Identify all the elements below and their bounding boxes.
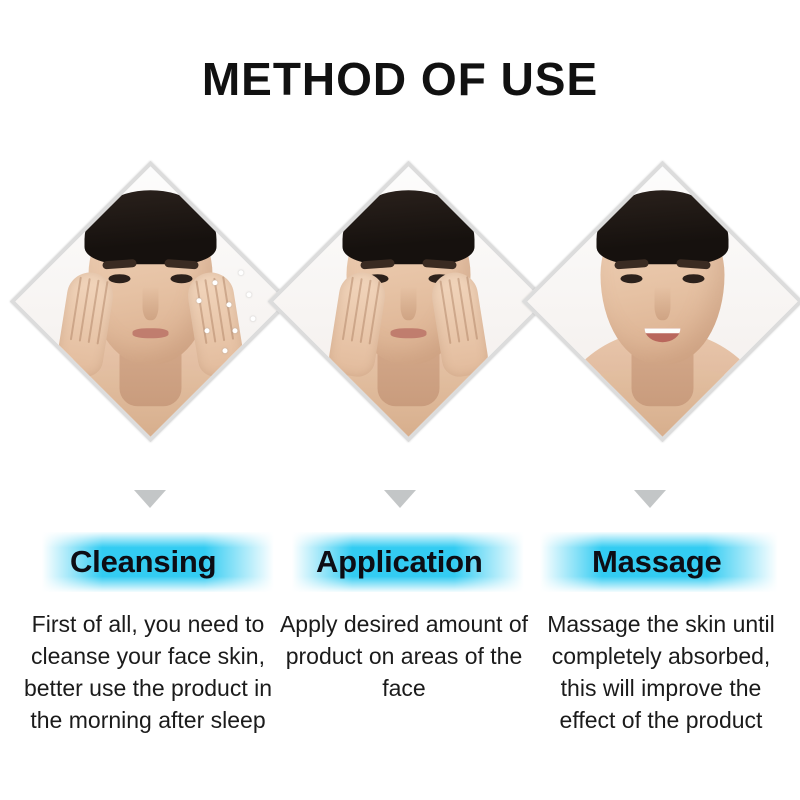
arrow-row (0, 490, 800, 520)
diamond-frame (521, 160, 800, 441)
triangle-down-icon (634, 490, 666, 508)
step-photo-application (267, 160, 549, 442)
step-label-text: Massage (540, 532, 778, 592)
step-photo-massage (521, 160, 800, 442)
method-of-use-infographic: METHOD OF USE (0, 0, 800, 800)
step-label-row: Cleansing Application Massage (0, 532, 800, 596)
diamond-photo-3 (521, 160, 800, 441)
triangle-down-icon (134, 490, 166, 508)
photo-smiling-man (521, 160, 800, 441)
step-label-text: Cleansing (42, 532, 274, 592)
triangle-down-icon (384, 490, 416, 508)
step-description-massage: Massage the skin until completely absorb… (532, 608, 790, 736)
photo-man-applying-product (267, 160, 548, 441)
step-label-text: Application (292, 532, 524, 592)
diamond-frame (9, 160, 290, 441)
water-droplets-icon (9, 160, 290, 441)
diamond-photo-row (0, 160, 800, 450)
step-description-application: Apply desired amount of product on areas… (278, 608, 530, 704)
photo-man-washing-face (9, 160, 290, 441)
step-label-cleansing: Cleansing (42, 532, 274, 592)
step-label-massage: Massage (540, 532, 778, 592)
step-label-application: Application (292, 532, 524, 592)
page-title: METHOD OF USE (0, 52, 800, 106)
diamond-frame (267, 160, 548, 441)
diamond-photo-1 (9, 160, 290, 441)
step-description-row: First of all, you need to cleanse your f… (0, 608, 800, 788)
diamond-photo-2 (267, 160, 548, 441)
step-photo-cleansing (9, 160, 291, 442)
step-description-cleansing: First of all, you need to cleanse your f… (22, 608, 274, 736)
